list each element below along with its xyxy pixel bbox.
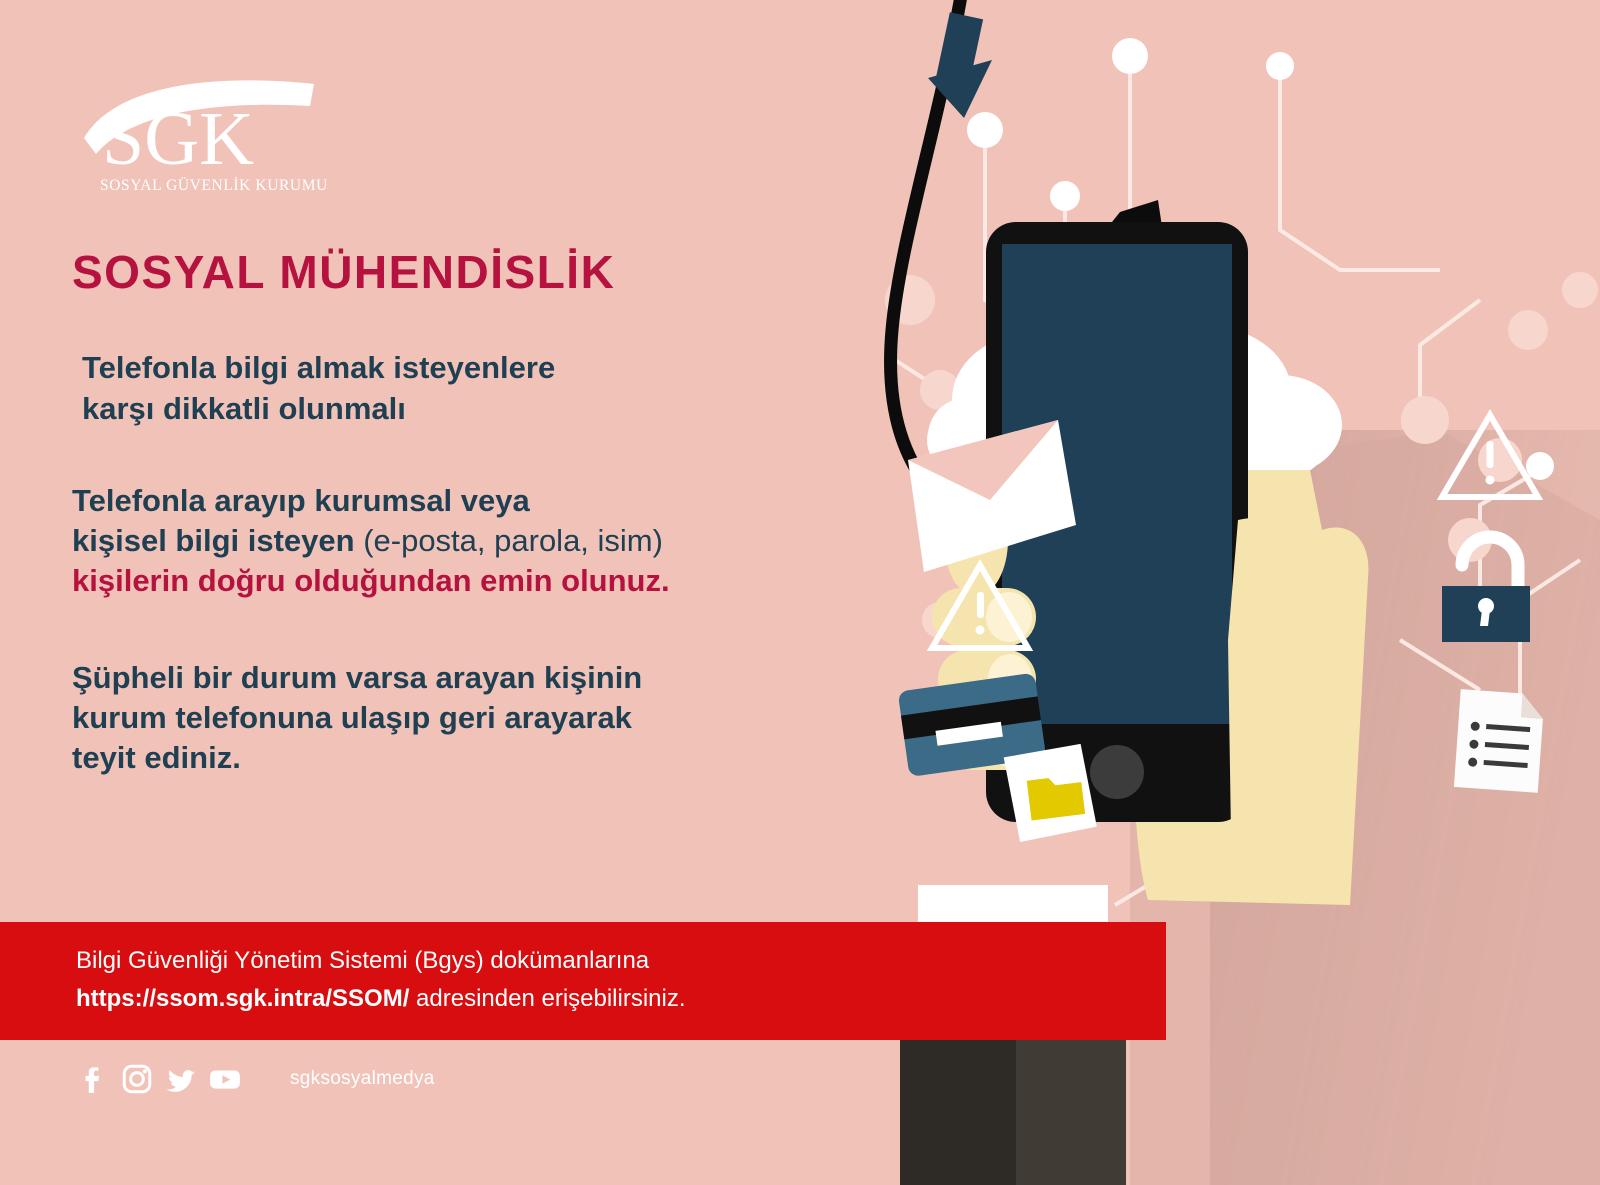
- paragraph-3: Şüpheli bir durum varsa arayan kişinin k…: [72, 658, 972, 779]
- paragraph-2-bold: kişisel bilgi isteyen: [72, 523, 355, 558]
- paragraph-2-light: (e-posta, parola, isim): [355, 523, 663, 558]
- paragraph-2-line-1: Telefonla arayıp kurumsal veya: [72, 481, 972, 521]
- ssom-url-link[interactable]: https://ssom.sgk.intra/SSOM/: [76, 985, 409, 1012]
- social-footer: sgksosyalmedya: [76, 1062, 435, 1096]
- paragraph-2-accent-line: kişilerin doğru olduğundan emin olunuz.: [72, 561, 972, 601]
- paragraph-3-line-1: Şüpheli bir durum varsa arayan kişinin: [72, 658, 972, 698]
- sgk-logo: SGK SOSYAL GÜVENLİK KURUMU: [78, 76, 343, 216]
- banner-line-2-tail: adresinden erişebilirsiniz.: [409, 985, 685, 1012]
- paragraph-1-line-1: Telefonla bilgi almak isteyenlere: [82, 348, 972, 388]
- instagram-icon[interactable]: [120, 1062, 154, 1096]
- logo-acronym: SGK: [102, 97, 254, 181]
- youtube-icon[interactable]: [208, 1062, 242, 1096]
- paragraph-3-line-2: kurum telefonuna ulaşıp geri arayarak: [72, 698, 972, 738]
- poster-canvas: SGK SOSYAL GÜVENLİK KURUMU SOSYAL MÜHEND…: [0, 0, 1600, 1185]
- banner-line-2: https://ssom.sgk.intra/SSOM/ adresinden …: [76, 985, 686, 1013]
- paragraph-1-line-2: karşı dikkatli olunmalı: [82, 389, 972, 429]
- social-handle: sgksosyalmedya: [290, 1068, 435, 1090]
- paragraph-1: Telefonla bilgi almak isteyenlere karşı …: [72, 348, 972, 429]
- twitter-icon[interactable]: [164, 1062, 198, 1096]
- paragraph-3-line-3: teyit ediniz.: [72, 738, 972, 778]
- paragraph-2: Telefonla arayıp kurumsal veya kişisel b…: [72, 481, 972, 602]
- paragraph-2-line-2: kişisel bilgi isteyen (e-posta, parola, …: [72, 521, 972, 561]
- banner-line-1: Bilgi Güvenliği Yönetim Sistemi (Bgys) d…: [76, 947, 649, 975]
- page-title: SOSYAL MÜHENDİSLİK: [72, 248, 972, 296]
- list-document: [1454, 689, 1545, 793]
- logo-subtitle: SOSYAL GÜVENLİK KURUMU: [100, 177, 328, 194]
- info-banner: Bilgi Güvenliği Yönetim Sistemi (Bgys) d…: [0, 922, 1166, 1040]
- text-column: SOSYAL MÜHENDİSLİK Telefonla bilgi almak…: [72, 248, 972, 779]
- facebook-icon[interactable]: [76, 1062, 110, 1096]
